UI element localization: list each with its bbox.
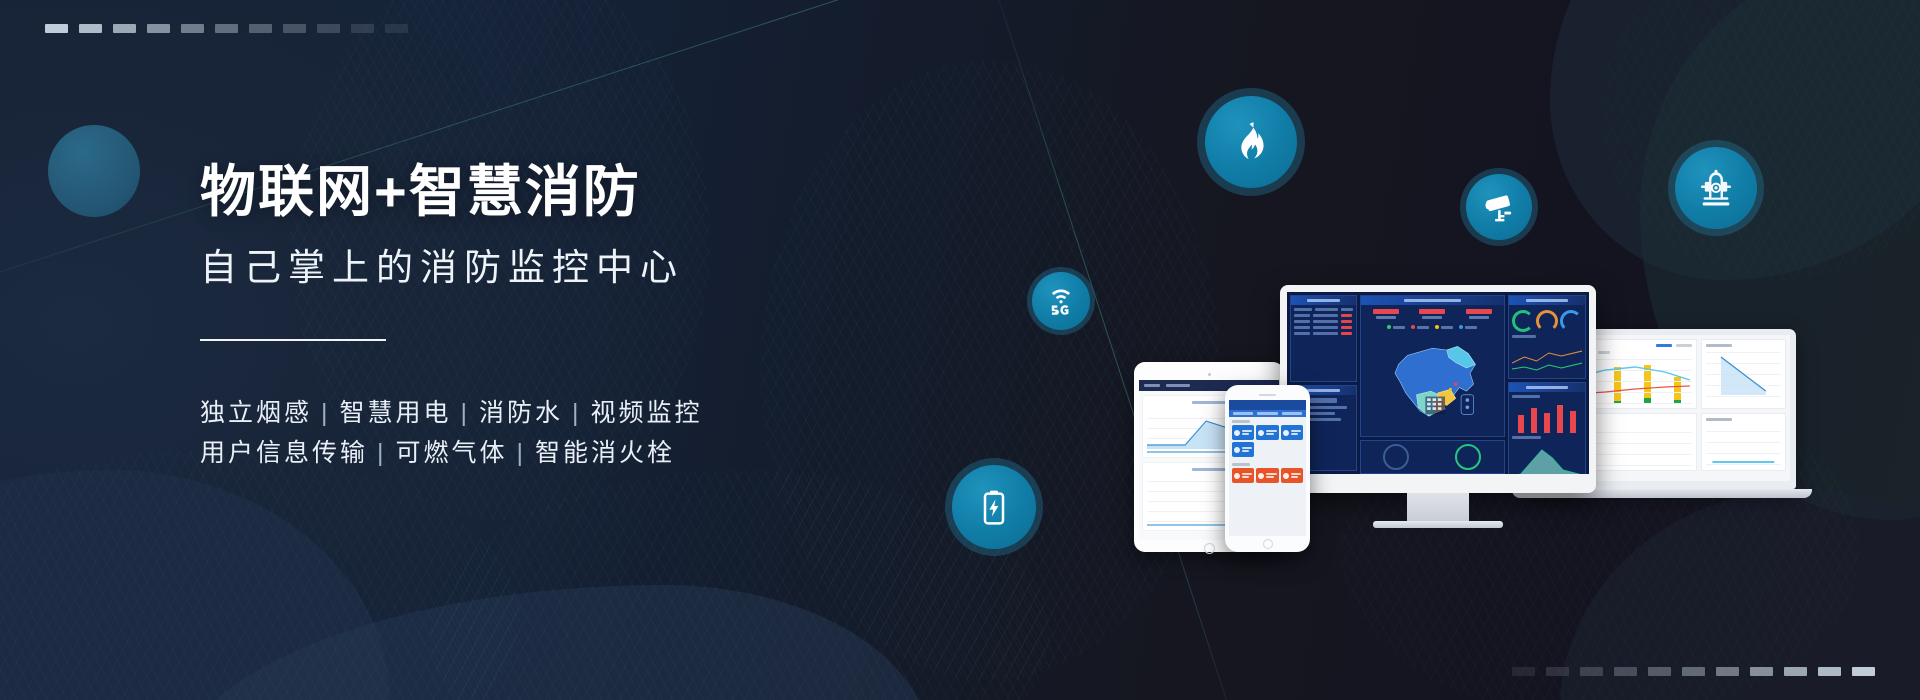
- decor-dash: [1784, 667, 1807, 676]
- phone-home-button[interactable]: [1263, 539, 1273, 549]
- decor-dash: [351, 24, 374, 33]
- decor-blob-bottom-left-2: [170, 585, 930, 700]
- dashboard-alarm-list-panel: [1290, 295, 1357, 382]
- feature-separator: |: [563, 399, 591, 427]
- phone-section-1: [1229, 417, 1306, 457]
- laptop-trend-card: [1701, 339, 1786, 409]
- decor-dash: [215, 24, 238, 33]
- monitor-stand: [1407, 493, 1469, 521]
- feature-separator: |: [452, 399, 480, 427]
- decor-dash: [1716, 667, 1739, 676]
- phone-tile[interactable]: [1232, 425, 1254, 440]
- dashboard-radar-left: [1383, 444, 1409, 470]
- page-subtitle: 自己掌上的消防监控中心: [200, 246, 960, 290]
- phone-mockup: [1225, 385, 1310, 552]
- tablet-camera-icon: [1208, 373, 1211, 376]
- battery-icon-badge[interactable]: [945, 458, 1043, 556]
- feature-item: 智慧用电: [340, 399, 452, 427]
- camera-icon-badge[interactable]: [1460, 168, 1538, 246]
- decor-dash: [1750, 667, 1773, 676]
- dashboard-area-chart: [1512, 442, 1582, 474]
- decor-dashes-bottom-right: [1512, 667, 1875, 676]
- decor-dashes-top-left: [45, 24, 408, 33]
- phone-screen: [1229, 400, 1306, 536]
- hydrant-icon: [1695, 167, 1737, 209]
- page-title: 物联网+智慧消防: [200, 160, 960, 224]
- laptop-usage-chart: [1706, 425, 1781, 465]
- tablet-home-button[interactable]: [1204, 543, 1215, 554]
- phone-tile-alert[interactable]: [1281, 468, 1303, 483]
- flame-icon-badge[interactable]: [1197, 88, 1305, 196]
- feature-separator: |: [368, 439, 396, 467]
- dashboard-line-chart: [1512, 341, 1582, 375]
- feature-list: 独立烟感|智慧用电|消防水|视频监控 用户信息传输|可燃气体|智能消火栓: [200, 393, 960, 474]
- dashboard-gauge: [1560, 310, 1582, 332]
- decor-dash: [181, 24, 204, 33]
- dashboard-bar-panel: [1508, 382, 1586, 474]
- dashboard-center-column: [1360, 295, 1505, 471]
- phone-tabbar[interactable]: [1229, 410, 1306, 417]
- decor-dash: [1512, 667, 1535, 676]
- decor-dash: [283, 24, 306, 33]
- feature-row-1: 独立烟感|智慧用电|消防水|视频监控: [200, 393, 960, 434]
- dashboard-bar-chart: [1512, 401, 1582, 433]
- decor-blob-top-right-1: [1550, 0, 1920, 280]
- monitor-bezel: [1280, 285, 1596, 493]
- hero-copy: 物联网+智慧消防 自己掌上的消防监控中心 独立烟感|智慧用电|消防水|视频监控 …: [200, 160, 960, 474]
- hero-banner: 物联网+智慧消防 自己掌上的消防监控中心 独立烟感|智慧用电|消防水|视频监控 …: [0, 0, 1920, 700]
- tablet-chart-label-2: [1192, 468, 1226, 471]
- decor-mesh-f: [1600, 0, 1920, 280]
- title-divider: [200, 339, 386, 341]
- 5g-icon-badge[interactable]: [1027, 267, 1095, 335]
- flame-icon: [1228, 119, 1274, 165]
- dashboard-gauge-panel: [1508, 295, 1586, 379]
- dashboard-kpi-row: [1361, 305, 1504, 323]
- decor-dash: [147, 24, 170, 33]
- phone-tile[interactable]: [1232, 442, 1254, 457]
- dashboard-gauge: [1536, 310, 1558, 332]
- feature-separator: |: [508, 439, 536, 467]
- tablet-chart-label-1: [1192, 401, 1226, 404]
- dashboard-right-column: [1508, 295, 1586, 471]
- decor-dash: [317, 24, 340, 33]
- decor-dash: [79, 24, 102, 33]
- dashboard-map-panel: [1360, 295, 1505, 437]
- feature-item: 消防水: [479, 399, 563, 427]
- decor-mesh-c: [0, 450, 520, 700]
- 5g-icon: [1045, 285, 1077, 317]
- phone-tile-alert[interactable]: [1232, 468, 1254, 483]
- decor-dash: [113, 24, 136, 33]
- decor-blob-bottom-left-1: [0, 470, 390, 700]
- monitor-chin: [1287, 474, 1589, 479]
- phone-speaker-icon: [1259, 394, 1276, 396]
- phone-tile[interactable]: [1281, 425, 1303, 440]
- camera-icon: [1481, 189, 1517, 225]
- feature-item: 用户信息传输: [200, 439, 368, 467]
- monitor-base: [1373, 521, 1503, 528]
- feature-item: 智能消火栓: [535, 439, 675, 467]
- laptop-trend-label: [1706, 344, 1732, 347]
- decor-dash: [1682, 667, 1705, 676]
- decor-dash: [1818, 667, 1841, 676]
- hydrant-icon-badge[interactable]: [1668, 140, 1764, 236]
- monitor-mockup: [1280, 285, 1596, 528]
- decor-circle-accent: [48, 125, 140, 217]
- decor-dash: [385, 24, 408, 33]
- phone-tile-alert[interactable]: [1256, 468, 1278, 483]
- decor-dash: [1614, 667, 1637, 676]
- battery-icon: [974, 487, 1014, 527]
- phone-titlebar: [1229, 400, 1306, 410]
- feature-separator: |: [312, 399, 340, 427]
- device-mockups: [1110, 285, 1810, 585]
- decor-dash: [1648, 667, 1671, 676]
- feature-item: 独立烟感: [200, 399, 312, 427]
- feature-item: 视频监控: [591, 399, 703, 427]
- decor-dash: [45, 24, 68, 33]
- decor-dash: [1546, 667, 1569, 676]
- laptop-usage-label: [1706, 418, 1732, 421]
- monitor-screen: [1287, 292, 1589, 474]
- dashboard-china-map: [1361, 332, 1504, 436]
- feature-item: 可燃气体: [396, 439, 508, 467]
- phone-section-2: [1229, 460, 1306, 483]
- decor-dash: [1852, 667, 1875, 676]
- laptop-usage-card: [1701, 413, 1786, 471]
- dashboard-radar-panel: [1360, 440, 1505, 474]
- dashboard-gauge: [1512, 310, 1534, 332]
- decor-dash: [249, 24, 272, 33]
- dashboard-radar-right: [1455, 444, 1481, 470]
- feature-row-2: 用户信息传输|可燃气体|智能消火栓: [200, 433, 960, 474]
- laptop-trend-chart: [1706, 351, 1781, 397]
- dashboard-map-legend: [1361, 323, 1504, 332]
- decor-dash: [1580, 667, 1603, 676]
- phone-tile[interactable]: [1256, 425, 1278, 440]
